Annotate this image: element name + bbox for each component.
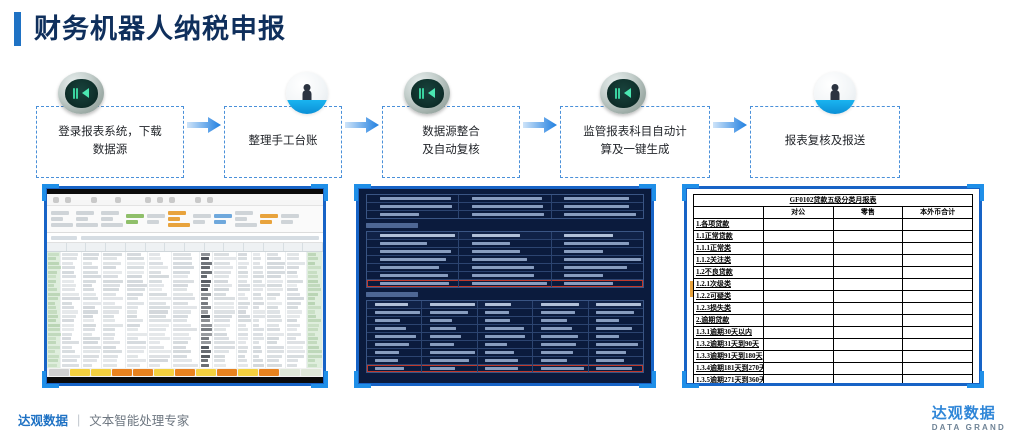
arrow-right-icon xyxy=(713,117,747,133)
flow-step-1[interactable]: 登录报表系统，下载 数据源 xyxy=(36,72,184,178)
flow-step-label: 监管报表科目自动计 算及一键生成 xyxy=(583,124,687,160)
panel-frame xyxy=(356,186,654,386)
corner-accent xyxy=(42,184,59,201)
footer-tagline: 文本智能处理专家 xyxy=(89,410,189,429)
footer-logo-en: DATA GRAND xyxy=(932,422,1006,433)
flow-step-5[interactable]: 报表复核及报送 xyxy=(750,72,900,178)
corner-accent xyxy=(967,184,984,201)
flow-arrow-3 xyxy=(520,72,560,178)
corner-accent xyxy=(42,371,59,388)
page-title: 财务机器人纳税申报 xyxy=(14,12,286,46)
flow-arrow-1 xyxy=(184,72,224,178)
person-icon xyxy=(812,72,858,118)
flow-arrow-4 xyxy=(710,72,750,178)
arrow-right-icon xyxy=(345,117,379,133)
flow-arrow-2 xyxy=(342,72,382,178)
title-accent-bar xyxy=(14,12,21,46)
corner-accent xyxy=(682,371,699,388)
panel-report[interactable]: GF0102贷款五级分类月报表对公零售本外币合计1.各项贷款1.1正常贷款1.1… xyxy=(684,186,982,386)
page-footer: 达观数据 | 文本智能处理专家 达观数据 DATA GRAND xyxy=(0,398,1024,444)
panel-spreadsheet[interactable] xyxy=(44,186,326,386)
flow-step-3[interactable]: 数据源整合 及自动复核 xyxy=(382,72,520,178)
corner-accent xyxy=(354,184,371,201)
panel-frame xyxy=(684,186,982,386)
robot-icon xyxy=(600,72,646,118)
corner-accent xyxy=(967,371,984,388)
footer-separator: | xyxy=(77,413,80,427)
panel-frame xyxy=(44,186,326,386)
person-icon xyxy=(284,72,330,118)
footer-brand: 达观数据 xyxy=(18,410,68,429)
arrow-right-icon xyxy=(523,117,557,133)
flow-step-label: 数据源整合 及自动复核 xyxy=(422,124,480,160)
panel-terminal[interactable] xyxy=(356,186,654,386)
footer-brand-line: 达观数据 | 文本智能处理专家 xyxy=(18,410,189,429)
flow-step-4[interactable]: 监管报表科目自动计 算及一键生成 xyxy=(560,72,710,178)
corner-accent xyxy=(311,371,328,388)
flow-step-label: 整理手工台账 xyxy=(249,133,318,151)
flow-step-2[interactable]: 整理手工台账 xyxy=(224,72,342,178)
process-flow: 登录报表系统，下载 数据源整理手工台账数据源整合 及自动复核监管报表科目自动计 … xyxy=(36,72,1000,178)
page-title-text: 财务机器人纳税申报 xyxy=(34,12,286,46)
flow-step-label: 登录报表系统，下载 数据源 xyxy=(58,124,162,160)
flow-step-label: 报表复核及报送 xyxy=(785,133,866,151)
screenshot-panels: GF0102贷款五级分类月报表对公零售本外币合计1.各项贷款1.1正常贷款1.1… xyxy=(0,186,1024,394)
robot-icon xyxy=(404,72,450,118)
robot-icon xyxy=(58,72,104,118)
arrow-right-icon xyxy=(187,117,221,133)
footer-logo-cn: 达观数据 xyxy=(932,406,1006,422)
footer-logo: 达观数据 DATA GRAND xyxy=(932,406,1006,433)
flow-step-box-3: 数据源整合 及自动复核 xyxy=(382,106,520,178)
corner-accent xyxy=(354,371,371,388)
corner-accent xyxy=(311,184,328,201)
corner-accent xyxy=(682,184,699,201)
corner-accent xyxy=(639,371,656,388)
corner-accent xyxy=(639,184,656,201)
